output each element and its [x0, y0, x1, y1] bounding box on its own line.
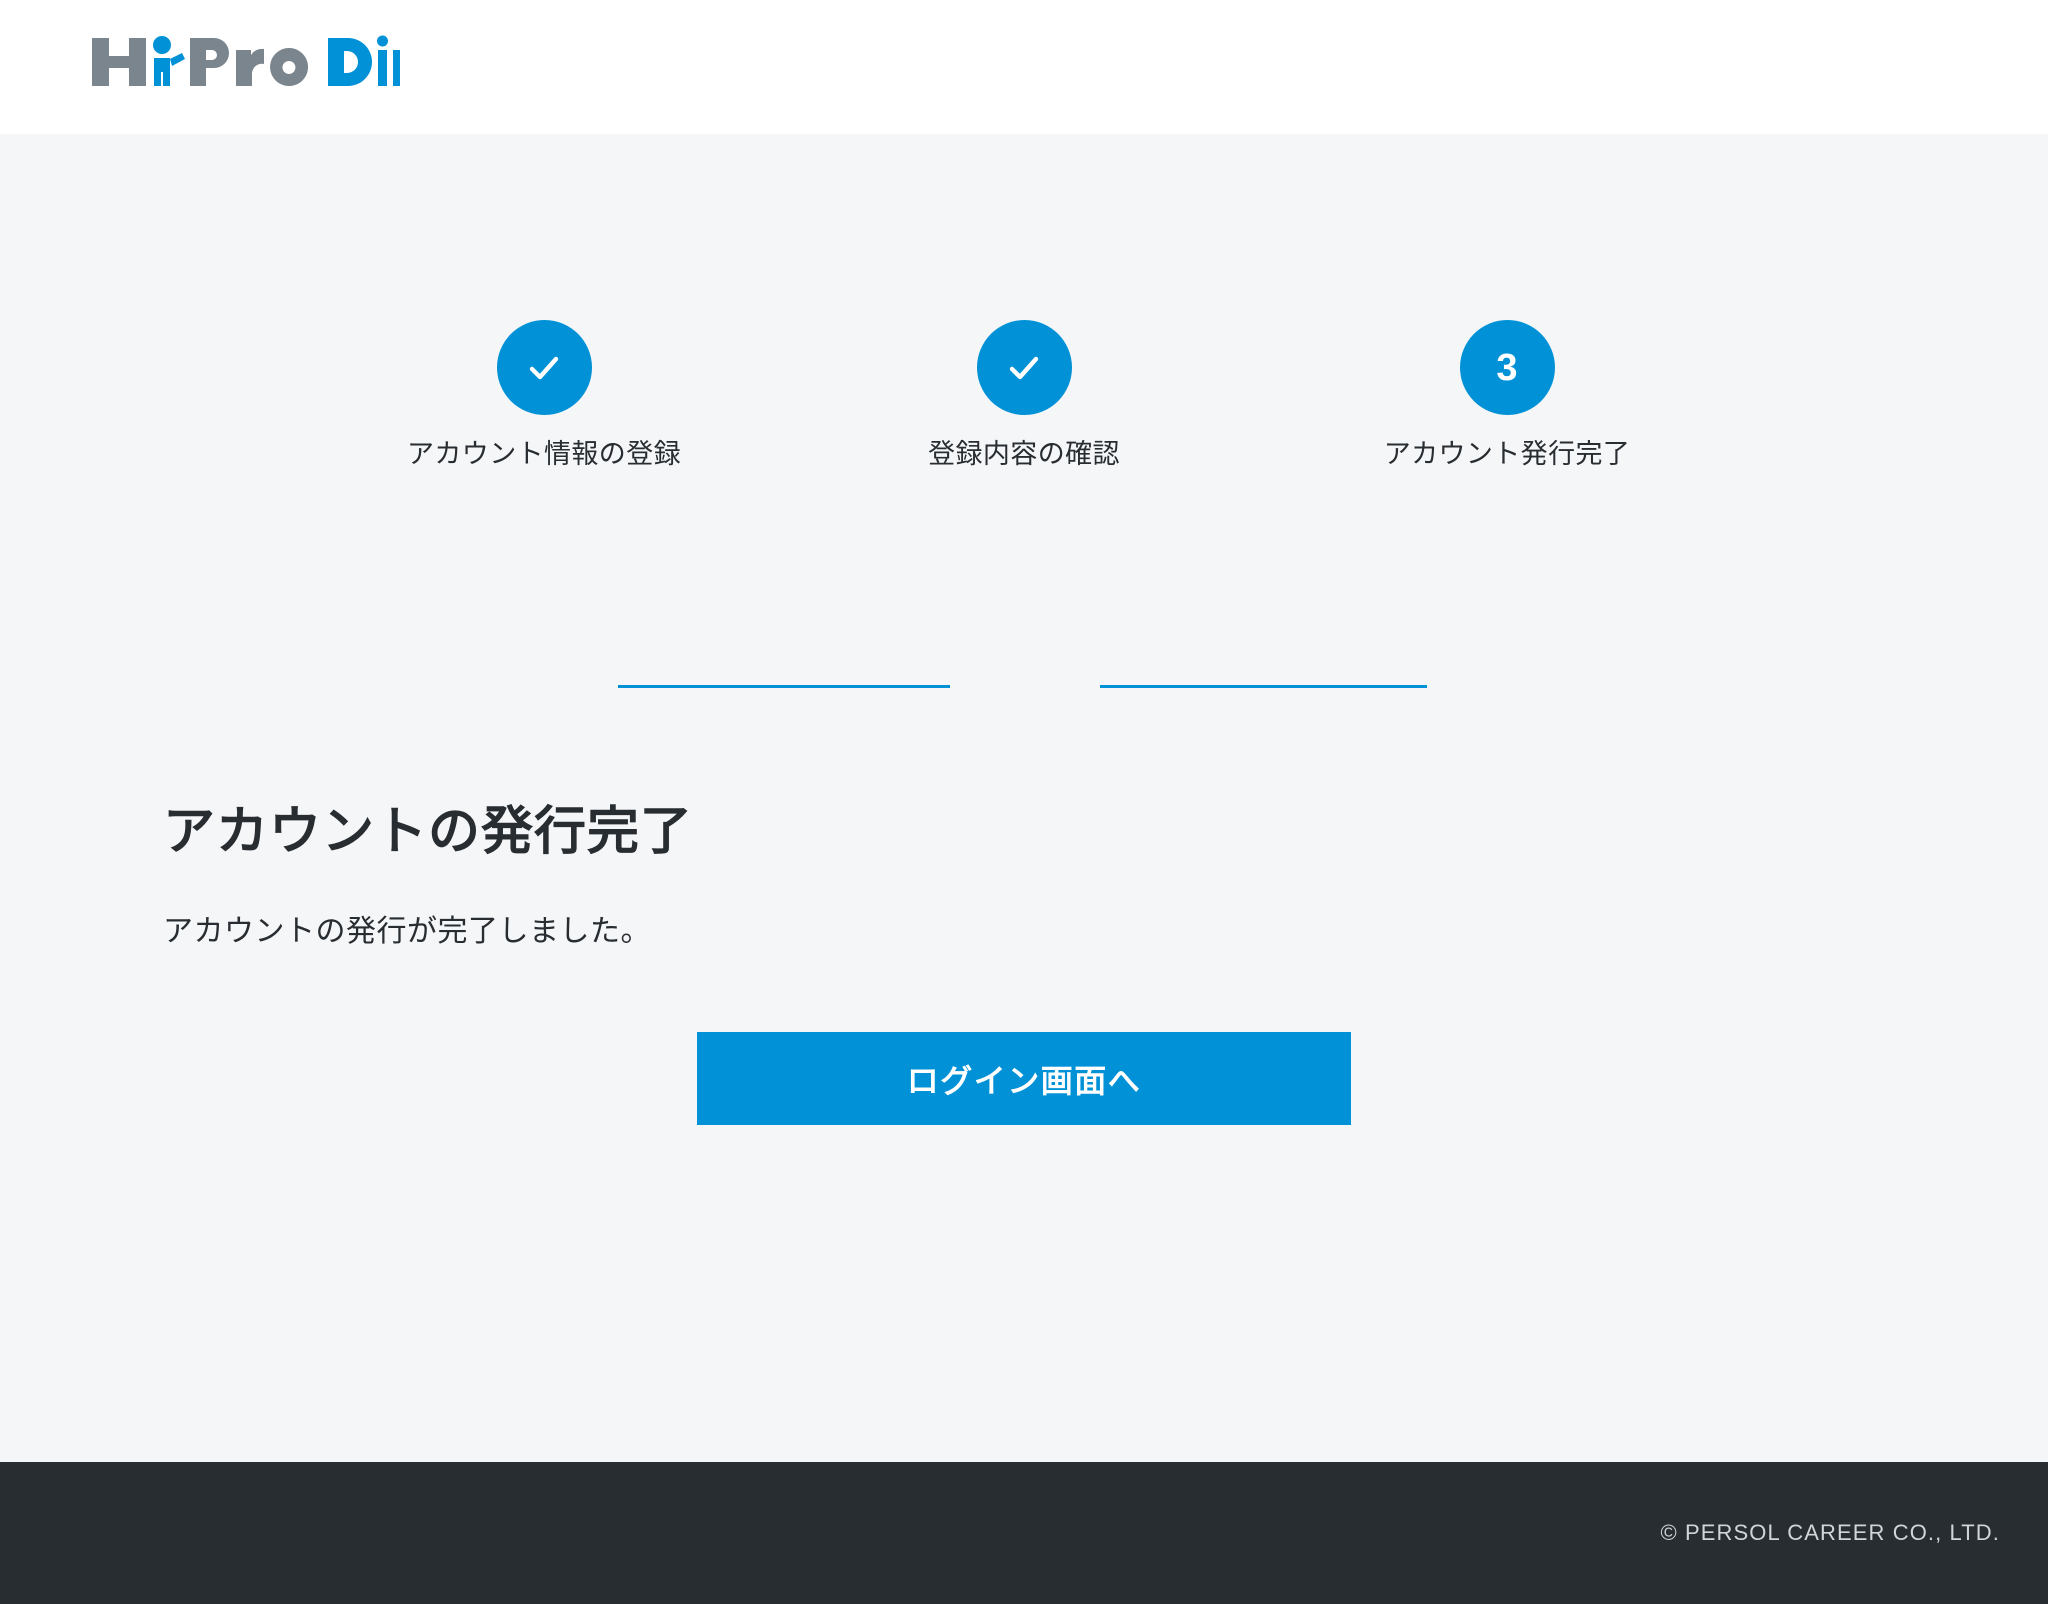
check-icon	[521, 345, 567, 391]
site-header: HiPro Direct	[0, 0, 2048, 134]
step-1-label: アカウント情報の登録	[374, 437, 714, 472]
step-1-circle	[497, 320, 592, 415]
copyright-text: © PERSOL CAREER CO., LTD.	[1660, 1520, 2000, 1546]
stepper-step-3: 3 アカウント発行完了	[1337, 320, 1677, 472]
page-description: アカウントの発行が完了しました。	[163, 909, 2048, 954]
action-area: ログイン画面へ	[0, 1032, 2048, 1125]
page-title: アカウントの発行完了	[163, 800, 2048, 865]
hipro-direct-logo-svg	[90, 32, 400, 94]
hipro-direct-logo[interactable]: HiPro Direct	[90, 32, 400, 102]
stepper-step-1: アカウント情報の登録	[374, 320, 714, 472]
main-content: アカウントの発行完了 アカウントの発行が完了しました。 ログイン画面へ	[0, 800, 2048, 1125]
step-3-label: アカウント発行完了	[1337, 437, 1677, 472]
progress-stepper: アカウント情報の登録 登録内容の確認 3 アカウント発行完了	[0, 320, 2048, 510]
step-connector-1-2	[618, 685, 950, 688]
check-icon	[1001, 345, 1047, 391]
step-2-circle	[977, 320, 1072, 415]
site-footer: © PERSOL CAREER CO., LTD.	[0, 1462, 2048, 1604]
step-3-number: 3	[1496, 349, 1517, 387]
go-to-login-button[interactable]: ログイン画面へ	[697, 1032, 1351, 1125]
step-2-label: 登録内容の確認	[854, 437, 1194, 472]
step-3-circle: 3	[1460, 320, 1555, 415]
stepper-step-2: 登録内容の確認	[854, 320, 1194, 472]
step-connector-2-3	[1100, 685, 1427, 688]
